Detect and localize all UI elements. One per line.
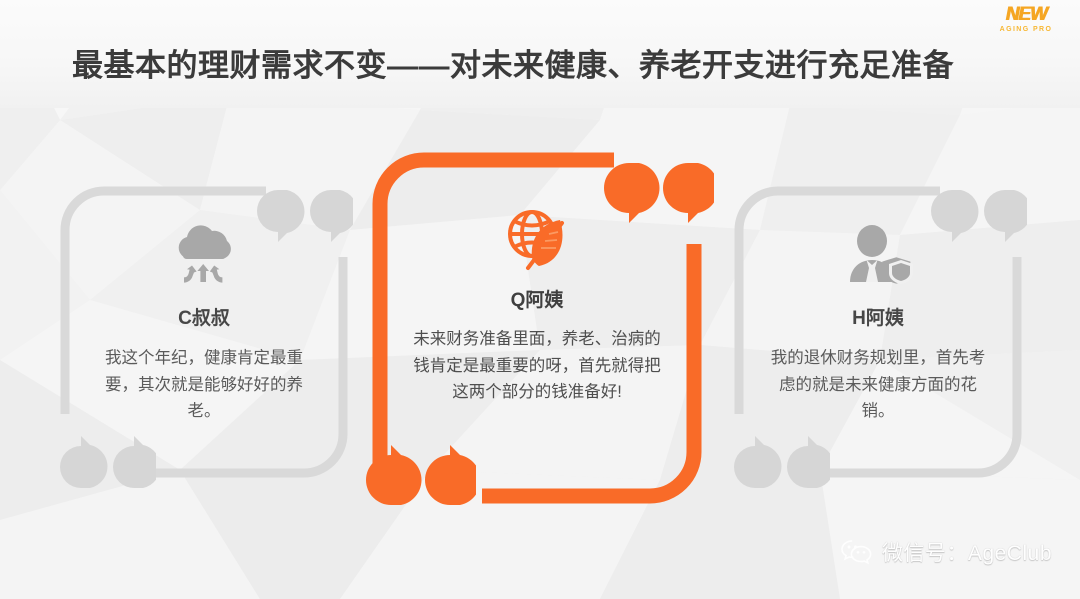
card-person-name: H阿姨: [730, 308, 1026, 331]
card-quote-text: 未来财务准备里面，养老、治病的钱肯定是最重要的呀，首先就得把这两个部分的钱准备好…: [400, 326, 674, 406]
quote-bubbles-top-right-card2: [604, 163, 714, 225]
card-quote-text: 我这个年纪，健康肯定最重要，其次就是能够好好的养老。: [86, 345, 322, 425]
card-quote-text: 我的退休财务规划里，首先考虑的就是未来健康方面的花销。: [760, 345, 996, 425]
quote-bubbles-top-right-card3: [931, 190, 1027, 244]
logo-sub-text: AGING PRO: [990, 26, 1062, 33]
watermark: 微信号：AgeClub: [840, 537, 1052, 567]
quote-bubbles-bottom-left-card1: [60, 434, 156, 488]
cloud-rising-arrows-icon: [166, 224, 242, 288]
card-person-name: Q阿姨: [372, 290, 702, 313]
person-shield-icon: [840, 224, 916, 288]
wechat-icon: [840, 538, 874, 566]
new-aging-pro-logo: NEW AGING PRO: [990, 5, 1062, 39]
page-title: 最基本的理财需求不变——对未来健康、养老开支进行充足准备: [72, 40, 954, 85]
quote-bubbles-bottom-left-card3: [734, 434, 830, 488]
card-person-name: C叔叔: [56, 308, 352, 331]
watermark-text: 微信号：AgeClub: [882, 537, 1052, 567]
logo-main-text: NEW: [990, 5, 1062, 24]
slide-canvas: 最基本的理财需求不变——对未来健康、养老开支进行充足准备 NEW AGING P…: [0, 0, 1080, 599]
globe-leaf-icon: [501, 206, 573, 272]
quote-bubbles-top-right-card1: [257, 190, 353, 244]
quote-bubbles-bottom-left-card2: [366, 443, 476, 505]
